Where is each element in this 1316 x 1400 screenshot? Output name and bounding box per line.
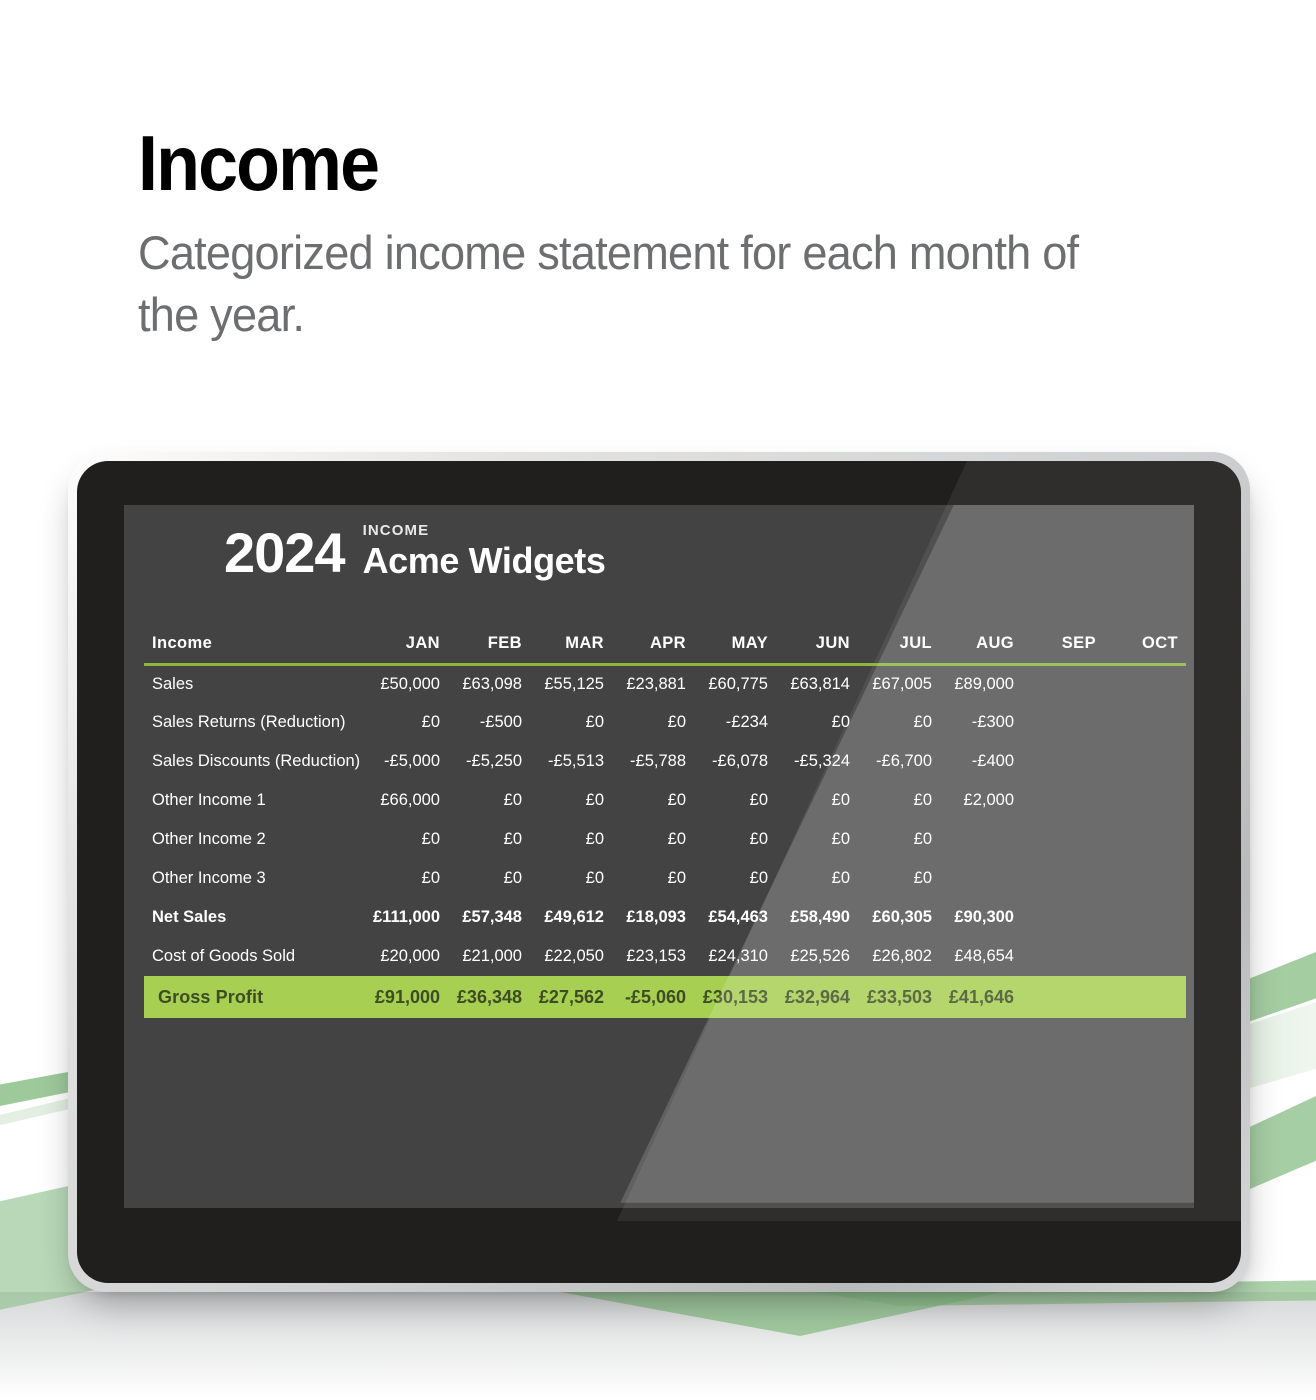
column-header-income: Income [144,625,366,664]
column-header-jun: JUN [776,625,858,664]
cell-value: £91,000 [366,976,448,1018]
cell-value: £26,802 [858,937,940,976]
cell-value: £55,125 [530,664,612,703]
cell-value: £0 [448,820,530,859]
cell-value: £63,098 [448,664,530,703]
cell-value [940,820,1022,859]
cell-value: £0 [612,859,694,898]
cell-value: £0 [776,820,858,859]
income-statement-table[interactable]: Income JAN FEB MAR APR MAY JUN JUL AUG S… [144,625,1186,1018]
cell-value: £0 [694,820,776,859]
table-row[interactable]: Gross Profit£91,000£36,348£27,562-£5,060… [144,976,1186,1018]
tablet-bezel: 2024 INCOME Acme Widgets Income [77,461,1241,1283]
cell-value [1104,859,1186,898]
cell-value [1022,820,1104,859]
cell-value: £0 [776,859,858,898]
cell-value: £21,000 [448,937,530,976]
row-label: Cost of Goods Sold [144,937,366,976]
cell-value: -£300 [940,703,1022,742]
column-header-oct: OCT [1104,625,1186,664]
cell-value: £22,050 [530,937,612,976]
cell-value: £111,000 [366,898,448,937]
cell-value: £0 [366,859,448,898]
table-body: Sales£50,000£63,098£55,125£23,881£60,775… [144,664,1186,1018]
row-label: Net Sales [144,898,366,937]
cell-value [1022,664,1104,703]
cell-value: £32,964 [776,976,858,1018]
column-header-aug: AUG [940,625,1022,664]
cell-value: £0 [694,859,776,898]
cell-value: £36,348 [448,976,530,1018]
cell-value: -£6,700 [858,742,940,781]
cell-value: £0 [858,703,940,742]
tablet-outer-frame: 2024 INCOME Acme Widgets Income [68,452,1250,1292]
cell-value: £49,612 [530,898,612,937]
cell-value: £63,814 [776,664,858,703]
column-header-jul: JUL [858,625,940,664]
cell-value [1022,781,1104,820]
cell-value: £60,775 [694,664,776,703]
cell-value: -£5,000 [366,742,448,781]
cell-value: £24,310 [694,937,776,976]
cell-value: £2,000 [940,781,1022,820]
row-label: Other Income 1 [144,781,366,820]
cell-value [1104,664,1186,703]
cell-value: £27,562 [530,976,612,1018]
cell-value: £33,503 [858,976,940,1018]
row-label: Other Income 2 [144,820,366,859]
cell-value: -£400 [940,742,1022,781]
page-title: Income [138,122,1104,204]
statement-company-name: Acme Widgets [363,541,606,581]
statement-year: 2024 [224,523,345,583]
cell-value: £0 [530,820,612,859]
cell-value [1104,781,1186,820]
column-header-may: MAY [694,625,776,664]
table-row[interactable]: Other Income 3£0£0£0£0£0£0£0 [144,859,1186,898]
cell-value: -£234 [694,703,776,742]
table-row[interactable]: Cost of Goods Sold£20,000£21,000£22,050£… [144,937,1186,976]
cell-value [1022,742,1104,781]
cell-value: £0 [612,820,694,859]
cell-value: -£5,513 [530,742,612,781]
cell-value: £90,300 [940,898,1022,937]
cell-value [940,859,1022,898]
cell-value: £0 [366,820,448,859]
cell-value [1022,703,1104,742]
cell-value [1104,703,1186,742]
cell-value [1104,742,1186,781]
column-header-feb: FEB [448,625,530,664]
cell-value: £60,305 [858,898,940,937]
cell-value [1022,976,1104,1018]
table-row[interactable]: Sales£50,000£63,098£55,125£23,881£60,775… [144,664,1186,703]
cell-value [1022,898,1104,937]
page-heading-block: Income Categorized income statement for … [138,122,1188,346]
table-row[interactable]: Other Income 2£0£0£0£0£0£0£0 [144,820,1186,859]
tablet-screen[interactable]: 2024 INCOME Acme Widgets Income [124,505,1194,1208]
cell-value: £0 [448,859,530,898]
tablet-device-mockup: 2024 INCOME Acme Widgets Income [68,452,1250,1292]
cell-value: -£6,078 [694,742,776,781]
cell-value: £18,093 [612,898,694,937]
cell-value: -£5,060 [612,976,694,1018]
cell-value: £0 [530,703,612,742]
cell-value: £66,000 [366,781,448,820]
cell-value: £0 [858,781,940,820]
cell-value: £89,000 [940,664,1022,703]
cell-value: £57,348 [448,898,530,937]
table-row[interactable]: Sales Returns (Reduction)£0-£500£0£0-£23… [144,703,1186,742]
cell-value: £0 [694,781,776,820]
cell-value [1104,976,1186,1018]
cell-value: £50,000 [366,664,448,703]
cell-value: £41,646 [940,976,1022,1018]
table-header-row: Income JAN FEB MAR APR MAY JUN JUL AUG S… [144,625,1186,664]
cell-value [1022,937,1104,976]
cell-value [1104,820,1186,859]
cell-value [1104,898,1186,937]
statement-header: 2024 INCOME Acme Widgets [224,523,606,583]
cell-value: £23,881 [612,664,694,703]
cell-value: £48,654 [940,937,1022,976]
statement-title-group: INCOME Acme Widgets [363,523,606,583]
statement-kicker: INCOME [363,523,606,539]
cell-value: £30,153 [694,976,776,1018]
cell-value: £58,490 [776,898,858,937]
cell-value: -£5,324 [776,742,858,781]
cell-value: £0 [612,781,694,820]
cell-value: £0 [858,820,940,859]
column-header-apr: APR [612,625,694,664]
cell-value: £0 [530,859,612,898]
column-header-jan: JAN [366,625,448,664]
cell-value: -£500 [448,703,530,742]
table-header: Income JAN FEB MAR APR MAY JUN JUL AUG S… [144,625,1186,664]
cell-value: £54,463 [694,898,776,937]
cell-value: £0 [448,781,530,820]
row-label: Other Income 3 [144,859,366,898]
cell-value: £0 [612,703,694,742]
table-row[interactable]: Other Income 1£66,000£0£0£0£0£0£0£2,000 [144,781,1186,820]
cell-value: £0 [858,859,940,898]
column-header-mar: MAR [530,625,612,664]
cell-value: -£5,788 [612,742,694,781]
row-label: Sales Discounts (Reduction) [144,742,366,781]
cell-value: £0 [776,781,858,820]
table-row[interactable]: Sales Discounts (Reduction)-£5,000-£5,25… [144,742,1186,781]
cell-value [1022,859,1104,898]
row-label: Sales Returns (Reduction) [144,703,366,742]
cell-value: £0 [530,781,612,820]
cell-value: £20,000 [366,937,448,976]
column-header-sep: SEP [1022,625,1104,664]
cell-value: £67,005 [858,664,940,703]
row-label: Gross Profit [144,976,366,1018]
cell-value [1104,937,1186,976]
cell-value: £23,153 [612,937,694,976]
page-subtitle: Categorized income statement for each mo… [138,222,1103,346]
cell-value: £0 [776,703,858,742]
row-label: Sales [144,664,366,703]
cell-value: £0 [366,703,448,742]
cell-value: £25,526 [776,937,858,976]
cell-value: -£5,250 [448,742,530,781]
table-row[interactable]: Net Sales£111,000£57,348£49,612£18,093£5… [144,898,1186,937]
